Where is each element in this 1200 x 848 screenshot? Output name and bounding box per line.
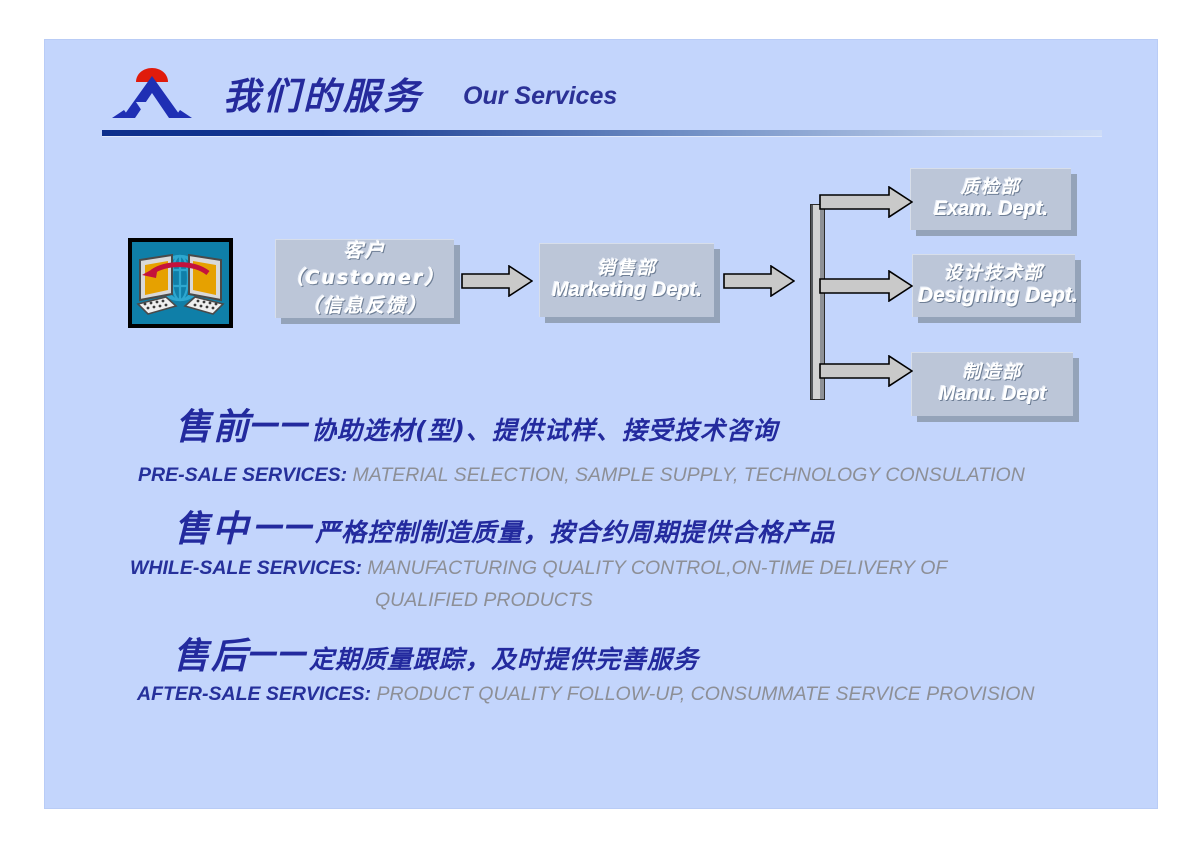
flow-box-design-en: Designing Dept.: [918, 284, 1078, 308]
company-logo-icon: [108, 62, 196, 124]
pre-sale-en-text: MATERIAL SELECTION, SAMPLE SUPPLY, TECHN…: [353, 464, 1025, 486]
slide-canvas: 我们的服务 Our Services: [45, 40, 1157, 808]
while-sale-en-text: MANUFACTURING QUALITY CONTROL,ON-TIME DE…: [367, 557, 947, 579]
customer-network-icon: [128, 238, 233, 328]
flow-box-customer-line1: 客户（Customer）: [276, 238, 454, 293]
while-sale-services-cn: 售中 ——严格控制制造质量，按合约周期提供合格产品: [174, 500, 835, 552]
flow-box-exam-dept: 质检部 Exam. Dept.: [910, 168, 1071, 230]
pre-sale-cn-body: 协助选材(型)、提供试样、接受技术咨询: [311, 416, 778, 445]
after-sale-services-en: AFTER-SALE SERVICES: PRODUCT QUALITY FOL…: [137, 683, 1035, 706]
flow-box-customer-line2: （信息反馈）: [302, 293, 428, 321]
flow-box-designing-dept: 设计技术部 Designing Dept.: [912, 254, 1075, 317]
while-sale-cn-dash: ——: [255, 508, 315, 543]
arrow-to-exam-dept: [819, 186, 913, 218]
arrow-to-manufacturing-dept: [819, 355, 913, 387]
flow-box-marketing: 销售部 Marketing Dept.: [539, 243, 714, 317]
pre-sale-services-cn: 售前——协助选材(型)、提供试样、接受技术咨询: [175, 398, 778, 450]
while-sale-cn-head: 售中: [174, 509, 250, 550]
while-sale-services-en-line2: QUALIFIED PRODUCTS: [375, 589, 593, 612]
after-sale-services-cn: 售后——定期质量跟踪，及时提供完善服务: [173, 627, 699, 679]
pre-sale-cn-dash: ——: [251, 406, 311, 441]
after-sale-en-text: PRODUCT QUALITY FOLLOW-UP, CONSUMMATE SE…: [376, 683, 1034, 705]
flow-box-marketing-en: Marketing Dept.: [552, 279, 702, 302]
pre-sale-cn-head: 售前: [175, 407, 251, 448]
after-sale-en-label: AFTER-SALE SERVICES:: [137, 683, 371, 705]
flow-box-manu-en: Manu. Dept: [939, 383, 1047, 406]
flow-box-marketing-cn: 销售部: [597, 259, 657, 280]
flow-box-design-cn: 设计技术部: [944, 264, 1044, 285]
pre-sale-en-label: PRE-SALE SERVICES:: [138, 464, 347, 486]
pre-sale-services-en: PRE-SALE SERVICES: MATERIAL SELECTION, S…: [138, 464, 1025, 487]
arrow-to-designing-dept: [819, 270, 913, 302]
flow-box-customer: 客户（Customer） （信息反馈）: [275, 239, 454, 318]
arrow-marketing-to-bracket: [723, 265, 795, 297]
after-sale-cn-body: 定期质量跟踪，及时提供完善服务: [309, 645, 699, 674]
page-title-en: Our Services: [463, 82, 617, 111]
flow-box-exam-en: Exam. Dept.: [934, 198, 1048, 221]
while-sale-en-text2: QUALIFIED PRODUCTS: [375, 589, 593, 611]
while-sale-cn-body: 严格控制制造质量，按合约周期提供合格产品: [315, 518, 835, 547]
flow-box-manu-cn: 制造部: [963, 363, 1023, 384]
flow-box-manufacturing-dept: 制造部 Manu. Dept: [911, 352, 1073, 416]
page-title-cn: 我们的服务: [223, 66, 423, 120]
flow-box-exam-cn: 质检部: [961, 178, 1021, 199]
header-divider: [102, 130, 1102, 137]
arrow-customer-to-marketing: [461, 265, 533, 297]
while-sale-services-en: WHILE-SALE SERVICES: MANUFACTURING QUALI…: [130, 557, 947, 580]
after-sale-cn-dash: ——: [249, 635, 309, 670]
while-sale-en-label: WHILE-SALE SERVICES:: [130, 557, 362, 579]
after-sale-cn-head: 售后: [173, 636, 249, 677]
